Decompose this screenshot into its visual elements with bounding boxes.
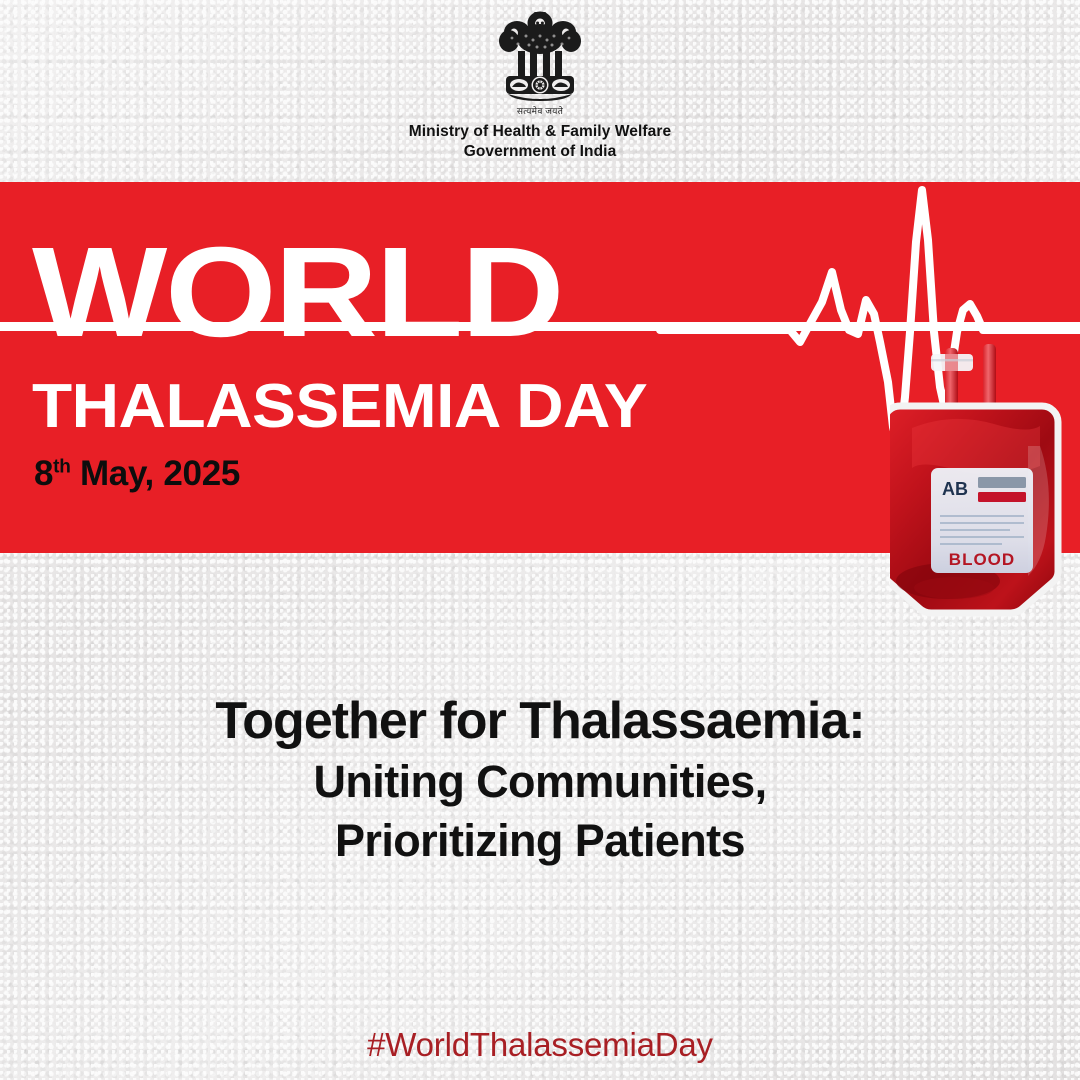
blood-label-text: BLOOD (949, 550, 1015, 569)
date-day-number: 8 (34, 454, 53, 493)
header-emblem-block: सत्यमेव जयते Ministry of Health & Family… (0, 0, 1080, 182)
theme-line-3: Prioritizing Patients (0, 812, 1080, 871)
banner-date: 8th May, 2025 (34, 454, 240, 494)
theme-message: Together for Thalassaemia: Uniting Commu… (0, 690, 1080, 870)
banner-title-thalassemia-day: THALASSEMIA DAY (32, 376, 647, 438)
banner-title-world: WORLD (32, 234, 562, 352)
ministry-name-line2: Government of India (464, 142, 617, 161)
date-ordinal-suffix: th (53, 456, 70, 477)
ashoka-lion-capital-emblem (492, 6, 588, 110)
ministry-name-line1: Ministry of Health & Family Welfare (409, 123, 671, 142)
banner-horizontal-rule (0, 322, 1080, 331)
emblem-motto-text: सत्यमेव जयते (517, 104, 563, 117)
blood-donation-bag: AB BLOOD (890, 336, 1068, 638)
blood-type-text: AB (942, 479, 968, 499)
theme-line-2: Uniting Communities, (0, 753, 1080, 812)
hashtag-text: #WorldThalassemiaDay (0, 1026, 1080, 1064)
date-month-year: May, 2025 (71, 454, 241, 493)
theme-line-1: Together for Thalassaemia: (0, 690, 1080, 753)
